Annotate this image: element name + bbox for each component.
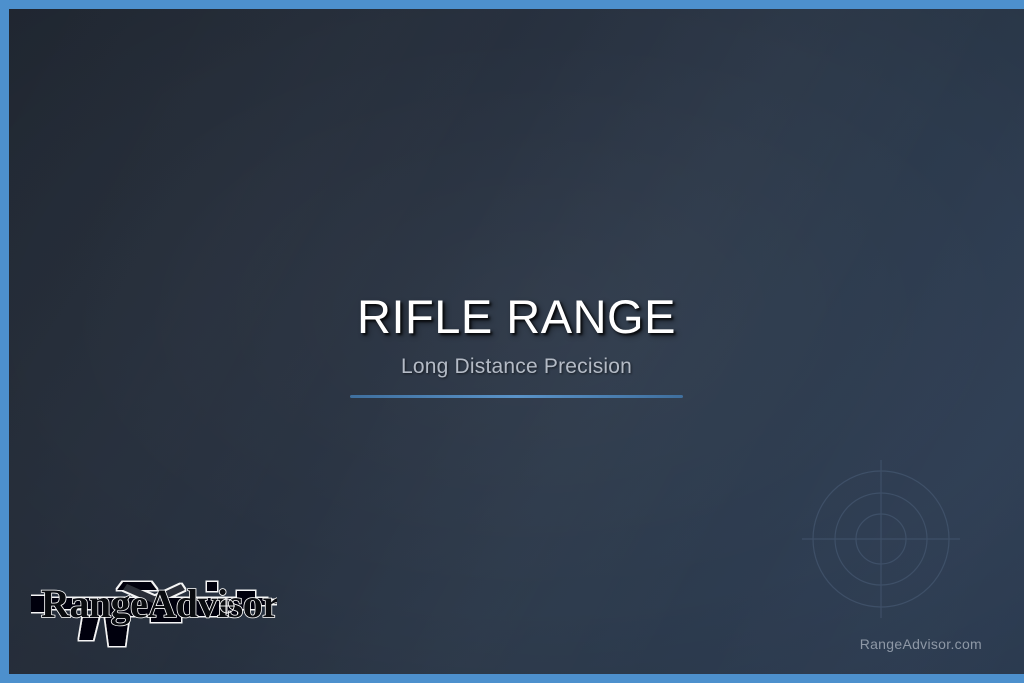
- page-title: RIFLE RANGE: [9, 292, 1024, 342]
- footer-url: RangeAdvisor.com: [860, 636, 982, 652]
- slide-subtitle: Long Distance Precision: [9, 355, 1024, 379]
- rifle-silhouette-icon: RangeAdvisor: [31, 560, 277, 652]
- logo-wordmark: RangeAdvisor: [41, 581, 277, 626]
- rangeadvisor-logo: RangeAdvisor: [31, 560, 277, 652]
- accent-divider: [350, 395, 683, 398]
- title-block: RIFLE RANGE Long Distance Precision: [9, 292, 1024, 398]
- presentation-slide: RIFLE RANGE Long Distance Precision Rang…: [0, 0, 1024, 683]
